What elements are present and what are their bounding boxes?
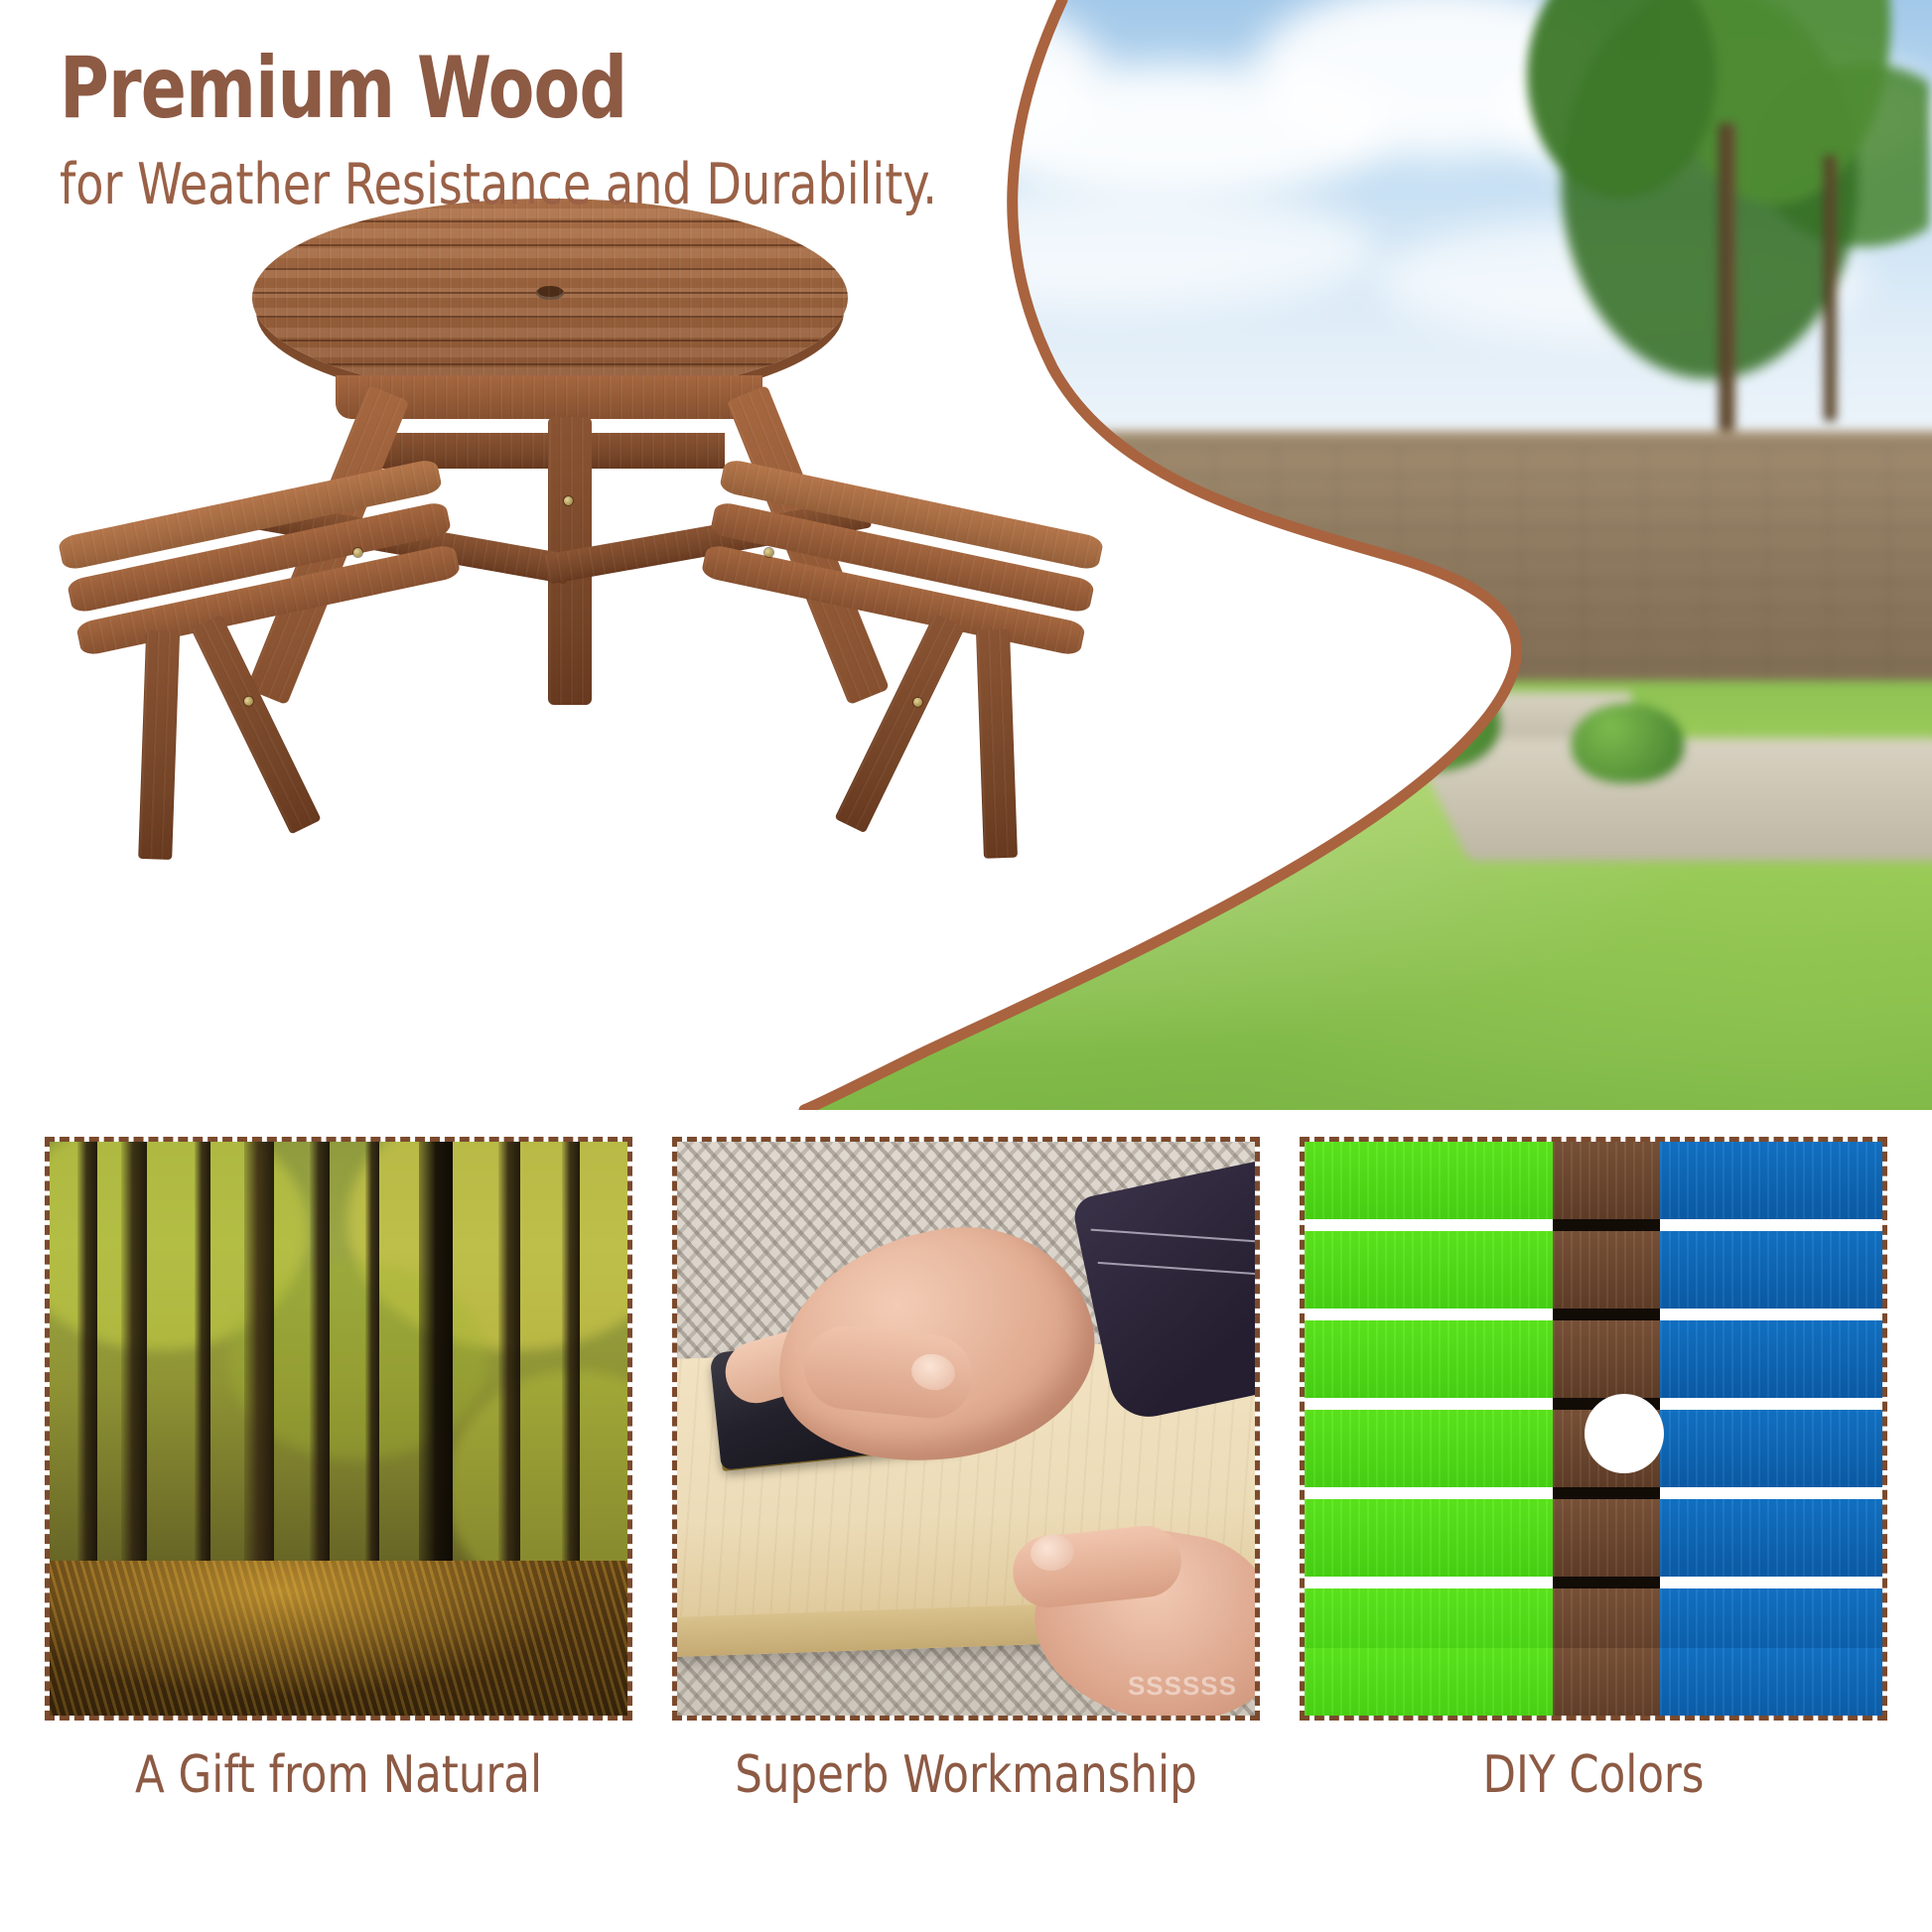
bench-leg <box>834 614 964 834</box>
plank-green <box>1305 1231 1553 1309</box>
shrub <box>1346 669 1500 771</box>
plank-green <box>1305 1648 1553 1716</box>
tree-trunk <box>1824 155 1836 421</box>
plank-blue <box>1660 1320 1882 1398</box>
tree-canopy <box>1490 0 1930 475</box>
bench-leg <box>191 615 321 835</box>
plank-brown <box>1553 1231 1660 1309</box>
plank-green <box>1305 1142 1553 1219</box>
umbrella-hole <box>536 286 564 300</box>
panel-workmanship: SSSSSS <box>672 1137 1260 1721</box>
panel-diy-colors <box>1300 1137 1887 1721</box>
caption-diy-colors: DIY Colors <box>1320 1745 1867 1805</box>
plank-brown <box>1553 1320 1660 1398</box>
caption-forest: A Gift from Natural <box>66 1745 613 1805</box>
hero-section: Premium Wood for Weather Resistance and … <box>0 0 1932 1110</box>
caption-workmanship: Superb Workmanship <box>693 1745 1240 1805</box>
page-subtitle: for Weather Resistance and Durability. <box>60 157 937 213</box>
plank-blue <box>1660 1648 1882 1716</box>
bench-leg <box>138 630 180 860</box>
plank-row <box>1305 1231 1882 1309</box>
plank-blue <box>1660 1499 1882 1577</box>
plank-blue <box>1660 1142 1882 1219</box>
headline-block: Premium Wood for Weather Resistance and … <box>60 46 1035 213</box>
plank-row <box>1305 1648 1882 1716</box>
bench-right <box>693 458 1105 694</box>
product-banner: Premium Wood for Weather Resistance and … <box>0 0 1932 1932</box>
forest-floor <box>50 1561 627 1716</box>
tree-trunk <box>1719 123 1734 430</box>
plank-green <box>1305 1320 1553 1398</box>
shrub <box>1572 704 1684 783</box>
tree <box>1490 0 1930 475</box>
plank-green <box>1305 1410 1553 1487</box>
plank-row <box>1305 1320 1882 1398</box>
plank-brown <box>1553 1499 1660 1577</box>
table-top <box>252 199 848 397</box>
picnic-table-product-image <box>69 199 1142 1023</box>
plank-green <box>1305 1499 1553 1577</box>
page-title: Premium Wood <box>60 46 917 131</box>
panel-forest <box>45 1137 632 1721</box>
plank-brown <box>1553 1142 1660 1219</box>
watermark: SSSSSS <box>1128 1671 1237 1702</box>
plank-blue <box>1660 1231 1882 1309</box>
plank-row <box>1305 1142 1882 1219</box>
plank-row <box>1305 1499 1882 1577</box>
feature-panels: A Gift from Natural S <box>0 1110 1932 1932</box>
bench-leg <box>976 629 1018 859</box>
plank-brown <box>1553 1648 1660 1716</box>
plank-blue <box>1660 1410 1882 1487</box>
